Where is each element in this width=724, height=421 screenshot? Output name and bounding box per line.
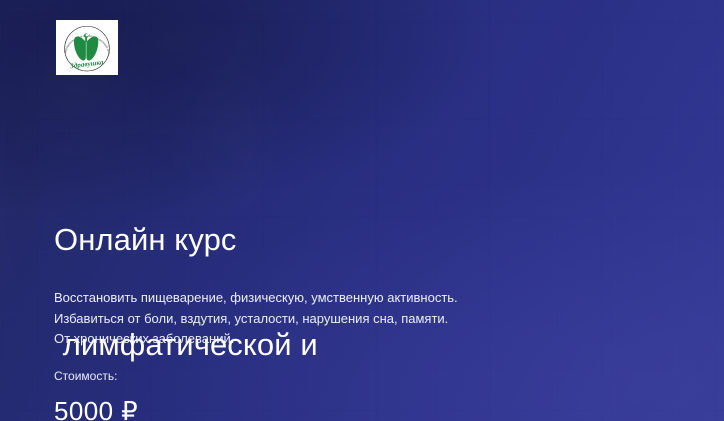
price-value: 5000 ₽ bbox=[54, 396, 138, 421]
benefits-text: Восстановить пищеварение, физическую, ум… bbox=[54, 288, 654, 350]
price-label: Стоимость: bbox=[54, 368, 138, 384]
logo-script-text: Здравушка bbox=[69, 58, 105, 70]
zdravushka-logo-icon: Оздоровительный и реабилитационный центр… bbox=[58, 22, 116, 73]
logo-lung-mark bbox=[74, 33, 98, 60]
benefits-line-3: От хронических заболеваний. bbox=[54, 329, 654, 350]
price-block: Стоимость: 5000 ₽ bbox=[54, 368, 138, 421]
benefits-line-1: Восстановить пищеварение, физическую, ум… bbox=[54, 288, 654, 309]
headline-line-1: Онлайн курс bbox=[54, 222, 614, 257]
promo-slide: Оздоровительный и реабилитационный центр… bbox=[0, 0, 724, 421]
logo-card: Оздоровительный и реабилитационный центр… bbox=[56, 20, 118, 75]
benefits-line-2: Избавиться от боли, вздутия, усталости, … bbox=[54, 309, 654, 330]
